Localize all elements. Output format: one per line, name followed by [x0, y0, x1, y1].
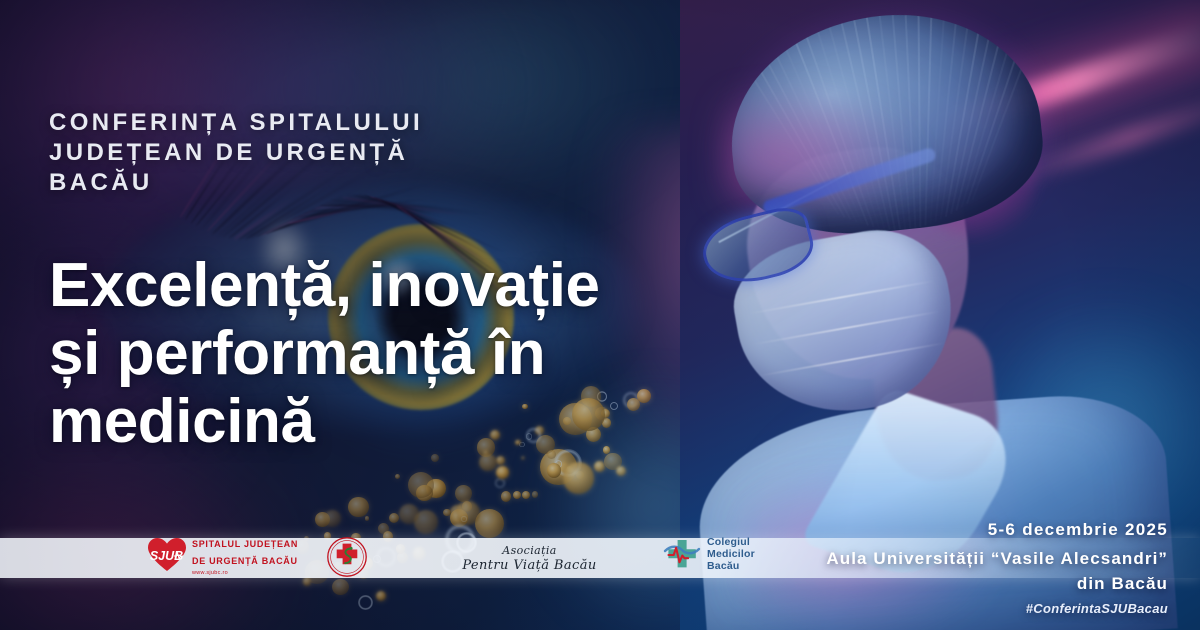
event-hashtag: #ConferintaSJUBacau	[738, 601, 1168, 616]
event-date: 5-6 decembrie 2025	[738, 520, 1168, 540]
colegiul-line-3: Bacău	[707, 560, 740, 572]
poster-content: CONFERINȚA SPITALULUI JUDEȚEAN DE URGENȚ…	[0, 0, 1200, 630]
sjub-website: www.sjubc.ro	[192, 571, 298, 577]
sjub-logo-text: SPITALUL JUDEȚEAN DE URGENȚĂ BACĂU www.s…	[192, 534, 298, 576]
event-details: 5-6 decembrie 2025 Aula Universității “V…	[738, 520, 1168, 616]
sjub-line-1: SPITALUL JUDEȚEAN	[192, 539, 298, 549]
conference-poster: CONFERINȚA SPITALULUI JUDEȚEAN DE URGENȚ…	[0, 0, 1200, 630]
logo-asociatia-pentru-viata-bacau[interactable]: Asociația Pentru Viață Bacău	[452, 538, 607, 578]
cross-heartbeat-icon	[662, 534, 702, 574]
sjub-line-2: DE URGENȚĂ BACĂU	[192, 556, 298, 566]
asociatia-line-2: Pentru Viață Bacău	[462, 558, 596, 573]
heart-sjub-icon: SJUB	[147, 537, 187, 573]
conference-organizer-title: CONFERINȚA SPITALULUI JUDEȚEAN DE URGENȚ…	[49, 108, 423, 198]
event-venue: Aula Universității “Vasile Alecsandri” d…	[738, 546, 1168, 596]
logo-red-cross-emblem[interactable]	[326, 536, 368, 578]
logo-spitalul-judetean-de-urgenta-bacau[interactable]: SJUB SPITALUL JUDEȚEAN DE URGENȚĂ BACĂU …	[147, 534, 298, 576]
asociatia-line-1: Asociația	[502, 544, 557, 557]
conference-headline: Excelență, inovație și performanță în me…	[49, 252, 669, 457]
red-cross-serpent-icon	[326, 536, 368, 578]
